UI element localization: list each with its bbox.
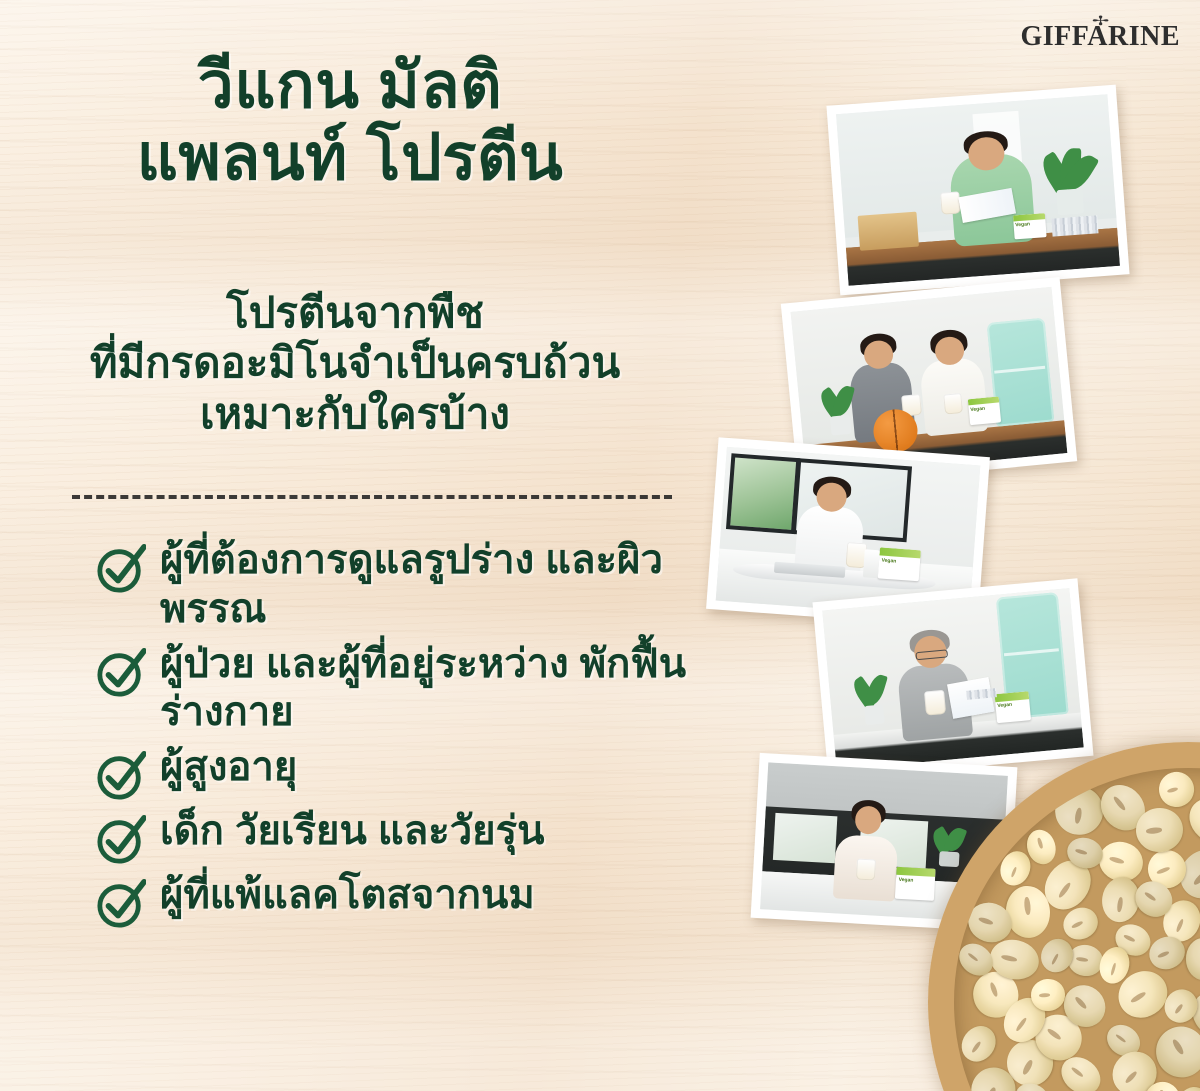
soybean	[1185, 938, 1200, 980]
soybean	[955, 1020, 1002, 1068]
check-circle-icon	[96, 544, 146, 594]
list-item-label: ผู้ป่วย และผู้ที่อยู่ระหว่าง พักฟื้นร่าง…	[160, 640, 736, 738]
subtitle-line-3: เหมาะกับใครบ้าง	[0, 389, 710, 439]
logo-ornament-icon: ✢	[973, 14, 1200, 27]
list-item-label: ผู้สูงอายุ	[160, 743, 297, 792]
benefit-list: ผู้ที่ต้องการดูแลรูปร่าง และผิวพรรณ ผู้ป…	[96, 536, 736, 935]
list-item: ผู้สูงอายุ	[96, 743, 736, 801]
giffarine-logo: ✢ GIFFARINE	[1020, 14, 1180, 51]
list-item-label: เด็ก วัยเรียน และวัยรุ่น	[160, 807, 544, 856]
check-circle-icon	[96, 879, 146, 929]
poster-canvas: ✢ GIFFARINE วีแกน มัลติ แพลนท์ โปรตีน โป…	[0, 0, 1200, 1091]
soybean	[1051, 783, 1106, 838]
soybean	[1035, 934, 1079, 979]
dashed-divider	[72, 495, 672, 499]
page-subtitle: โปรตีนจากพืช ที่มีกรดอะมิโนจำเป็นครบถ้วน…	[0, 288, 710, 439]
check-circle-icon	[96, 751, 146, 801]
list-item: ผู้ที่ต้องการดูแลรูปร่าง และผิวพรรณ	[96, 536, 736, 634]
check-circle-icon	[96, 815, 146, 865]
list-item: ผู้ที่แพ้แลคโตสจากนม	[96, 871, 736, 929]
subtitle-line-1: โปรตีนจากพืช	[0, 288, 710, 338]
list-item-label: ผู้ที่แพ้แลคโตสจากนม	[160, 871, 535, 920]
list-item: เด็ก วัยเรียน และวัยรุ่น	[96, 807, 736, 865]
headline-line-2: แพลนท์ โปรตีน	[0, 124, 700, 192]
soybean	[1154, 768, 1197, 811]
subtitle-line-2: ที่มีกรดอะมิโนจำเป็นครบถ้วน	[0, 338, 710, 388]
list-item-label: ผู้ที่ต้องการดูแลรูปร่าง และผิวพรรณ	[160, 536, 736, 634]
list-item: ผู้ป่วย และผู้ที่อยู่ระหว่าง พักฟื้นร่าง…	[96, 640, 736, 738]
headline-line-1: วีแกน มัลติ	[198, 49, 502, 121]
check-circle-icon	[96, 648, 146, 698]
photo-man-green-sweater: Vegan ชายหนุ่มเสื้อสเวตเตอร์เขียวถือแก้ว…	[826, 85, 1129, 296]
page-title: วีแกน มัลติ แพลนท์ โปรตีน	[0, 52, 700, 192]
photo-elderly-man: Vegan ชายสูงอายุผมหงอกใส่แว่นถือแก้วนมแล…	[812, 578, 1093, 779]
